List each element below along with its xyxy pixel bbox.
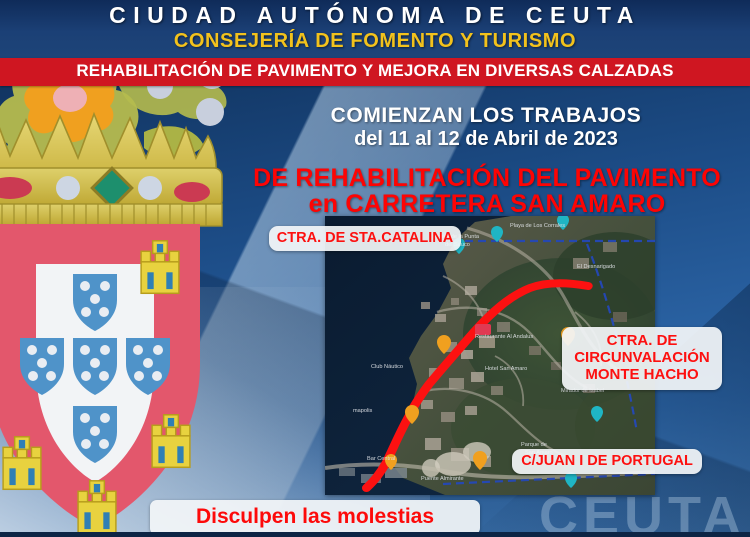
apology-banner: Disculpen las molestias: [150, 500, 480, 535]
svg-text:mapolis: mapolis: [353, 408, 372, 414]
coat-of-arms: [0, 16, 264, 537]
announcement-line-1: COMIENZAN LOS TRABAJOS: [236, 104, 736, 128]
svg-text:Club Náutico: Club Náutico: [371, 364, 403, 370]
map-label-circ-line1: CTRA. DE: [566, 333, 718, 350]
portuguese-shield: [0, 224, 200, 533]
svg-text:El Desnarigado: El Desnarigado: [577, 264, 615, 270]
header-subtitle: CONSEJERÍA DE FOMENTO Y TURISMO: [0, 30, 750, 53]
page-title: CIUDAD AUTÓNOMA DE CEUTA: [0, 2, 750, 29]
svg-text:Bar Central: Bar Central: [367, 456, 395, 462]
svg-text:Playa de Los Corrales: Playa de Los Corrales: [510, 223, 565, 229]
header-banner-text: REHABILITACIÓN DE PAVIMENTO Y MEJORA EN …: [0, 61, 750, 81]
svg-text:Puente Almirante: Puente Almirante: [421, 476, 464, 482]
map-label-circ-line3: MONTE HACHO: [566, 367, 718, 384]
bottom-frame: [0, 532, 750, 537]
map-label-sta-catalina: CTRA. DE STA.CATALINA: [269, 226, 461, 251]
svg-text:Hotel San Amaro: Hotel San Amaro: [485, 366, 527, 372]
announcement-highlight-1: DE REHABILITACIÓN DEL PAVIMENTO: [230, 164, 744, 193]
poster-canvas: CEUTA: [0, 0, 750, 537]
ceuta-watermark: CEUTA: [539, 489, 746, 537]
announcement-highlight-2: en CARRETERA SAN AMARO: [230, 190, 744, 219]
svg-text:Parque de: Parque de: [521, 442, 547, 448]
svg-text:Restaurante Al Andalus: Restaurante Al Andalus: [475, 334, 533, 340]
map-label-circunvalacion: CTRA. DE CIRCUNVALACIÓN MONTE HACHO: [562, 327, 722, 390]
announcement-line-2: del 11 al 12 de Abril de 2023: [236, 128, 736, 151]
map-label-circ-line2: CIRCUNVALACIÓN: [566, 350, 718, 367]
map-label-juan-i-de-portugal: C/JUAN I DE PORTUGAL: [512, 449, 702, 474]
